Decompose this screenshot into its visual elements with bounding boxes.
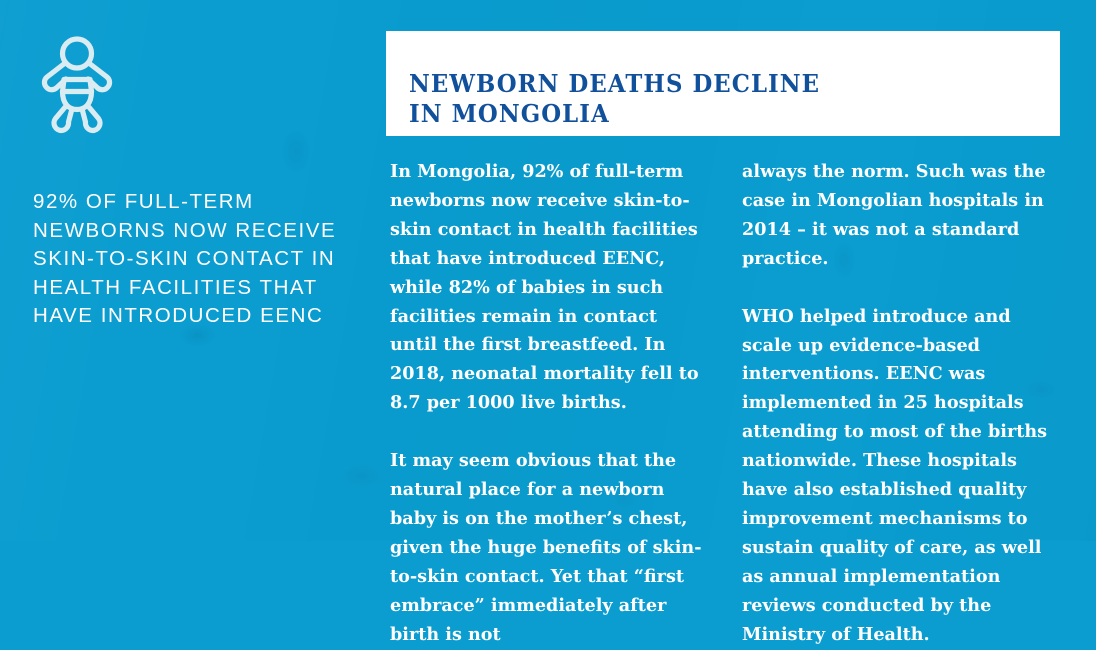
sidebar: 92% of full-term newborns now receive sk… — [33, 36, 363, 331]
body-column-right: always the norm. Such was the case in Mo… — [742, 158, 1054, 650]
body-column-left: In Mongolia, 92% of full-term newborns n… — [390, 158, 702, 650]
paragraph: WHO helped introduce and scale up eviden… — [742, 303, 1054, 650]
baby-icon — [33, 36, 121, 136]
title-card: Newborn deaths decline in Mongolia — [386, 31, 1060, 136]
page-title: Newborn deaths decline in Mongolia — [409, 69, 846, 129]
paragraph: In Mongolia, 92% of full-term newborns n… — [390, 158, 702, 418]
paragraph: always the norm. Such was the case in Mo… — [742, 158, 1054, 274]
sidebar-statistic-caption: 92% of full-term newborns now receive sk… — [33, 188, 363, 331]
paragraph: It may seem obvious that the natural pla… — [390, 447, 702, 649]
